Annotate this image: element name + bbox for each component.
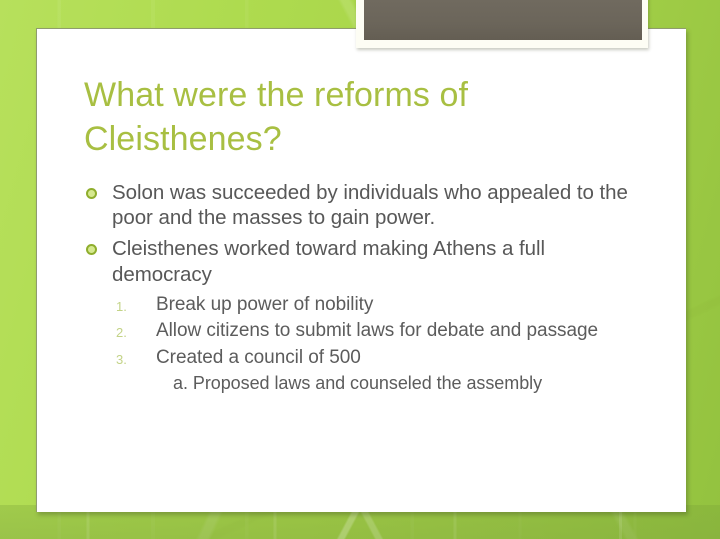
header-plate-frame [356, 0, 648, 48]
list-number: 3. [116, 346, 156, 366]
bullet-text: Cleisthenes worked toward making Athens … [112, 236, 632, 286]
sub-list-item-text: a. Proposed laws and counseled the assem… [173, 372, 632, 394]
ring-bullet-icon [86, 188, 97, 199]
bullet-item: Cleisthenes worked toward making Athens … [84, 236, 632, 286]
list-item-text: Break up power of nobility [156, 293, 632, 317]
numbered-list-item: 2. Allow citizens to submit laws for deb… [116, 319, 632, 343]
slide-body: Solon was succeeded by individuals who a… [84, 180, 632, 395]
numbered-list-item: 1. Break up power of nobility [116, 293, 632, 317]
numbered-list-item: 3. Created a council of 500 [116, 346, 632, 370]
header-plate [364, 0, 642, 40]
bullet-item: Solon was succeeded by individuals who a… [84, 180, 632, 230]
slide-title: What were the reforms of Cleisthenes? [84, 74, 624, 161]
bullet-text: Solon was succeeded by individuals who a… [112, 180, 632, 230]
list-item-text: Created a council of 500 [156, 346, 632, 370]
ring-bullet-icon [86, 244, 97, 255]
presentation-slide: What were the reforms of Cleisthenes? So… [0, 0, 720, 539]
list-item-text: Allow citizens to submit laws for debate… [156, 319, 632, 343]
list-number: 1. [116, 293, 156, 313]
numbered-list: 1. Break up power of nobility 2. Allow c… [116, 293, 632, 395]
list-number: 2. [116, 319, 156, 339]
